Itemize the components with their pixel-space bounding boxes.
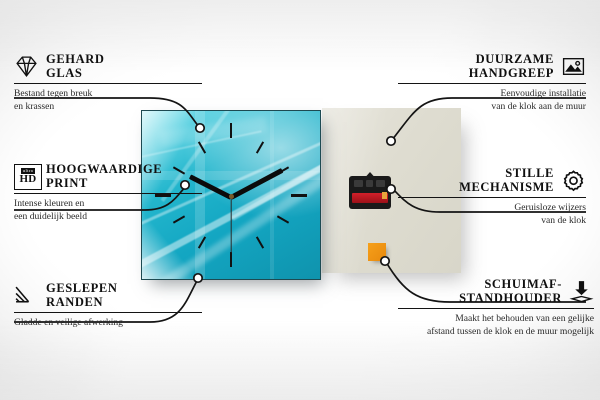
feature-title: GEHARDGLAS (46, 52, 104, 80)
clock-tick-3 (291, 194, 307, 197)
feature-description: Intense kleuren eneen duidelijk beeld (14, 198, 202, 223)
feature-callout-gehard-glas: GEHARDGLAS Bestand tegen breuken krassen (14, 52, 202, 113)
feature-divider (14, 83, 202, 84)
feature-callout-geslepen-randen: GESLEPENRANDEN Gladde en veilige afwerki… (14, 281, 202, 330)
infographic-canvas: GEHARDGLAS Bestand tegen breuken krassen… (0, 0, 600, 400)
feature-divider (398, 83, 586, 84)
ultra-hd-icon-label-hd: HD (19, 174, 36, 185)
feature-header: ultra HD HOOGWAARDIGEPRINT (14, 162, 202, 190)
feature-divider (14, 312, 202, 313)
feature-header: GESLEPENRANDEN (14, 281, 202, 309)
clock-tick-6 (230, 252, 232, 267)
feature-callout-duurzame-handgreep: DUURZAMEHANDGREEP Eenvoudige installatie… (398, 52, 586, 113)
diamond-icon (14, 54, 39, 79)
press-down-arrow-icon (569, 279, 594, 304)
ultra-hd-icon: ultra HD (14, 164, 39, 189)
gear-icon (561, 168, 586, 193)
feature-callout-stille-mechanisme: STILLEMECHANISME Geruisloze wijzersvan d… (398, 166, 586, 227)
clock-tick-12 (230, 123, 232, 138)
feature-description: Maakt het behouden van een gelijkeafstan… (398, 313, 594, 338)
feature-title: HOOGWAARDIGEPRINT (46, 162, 162, 190)
foam-spacer-pad (368, 243, 386, 261)
feature-title: GESLEPENRANDEN (46, 281, 118, 309)
picture-frame-icon (561, 54, 586, 79)
feature-description: Bestand tegen breuken krassen (14, 88, 202, 113)
clock-second-hand (230, 197, 231, 253)
feature-title: SCHUIMAF-STANDHOUDER (459, 277, 562, 305)
feature-divider (14, 193, 202, 194)
feature-title: DUURZAMEHANDGREEP (469, 52, 554, 80)
feature-callout-schuimafstandhouder: SCHUIMAF-STANDHOUDER Maakt het behouden … (398, 277, 594, 338)
clock-movement-mechanism (349, 172, 391, 209)
feature-header: STILLEMECHANISME (398, 166, 586, 194)
battery-positive-terminal (382, 192, 387, 199)
feature-description: Gladde en veilige afwerking (14, 317, 202, 329)
feature-divider (398, 197, 586, 198)
feature-title: STILLEMECHANISME (459, 166, 554, 194)
feature-header: DUURZAMEHANDGREEP (398, 52, 586, 80)
movement-slot (376, 180, 385, 187)
feature-divider (398, 308, 594, 309)
movement-slot (366, 180, 373, 187)
feature-header: SCHUIMAF-STANDHOUDER (398, 277, 594, 305)
feature-description: Geruisloze wijzersvan de klok (398, 202, 586, 227)
feature-description: Eenvoudige installatievan de klok aan de… (398, 88, 586, 113)
beveled-edges-icon (14, 283, 39, 308)
movement-slot (354, 180, 363, 187)
clock-center-pin (229, 194, 234, 199)
feature-callout-hoogwaardige-print: ultra HD HOOGWAARDIGEPRINT Intense kleur… (14, 162, 202, 223)
feature-header: GEHARDGLAS (14, 52, 202, 80)
